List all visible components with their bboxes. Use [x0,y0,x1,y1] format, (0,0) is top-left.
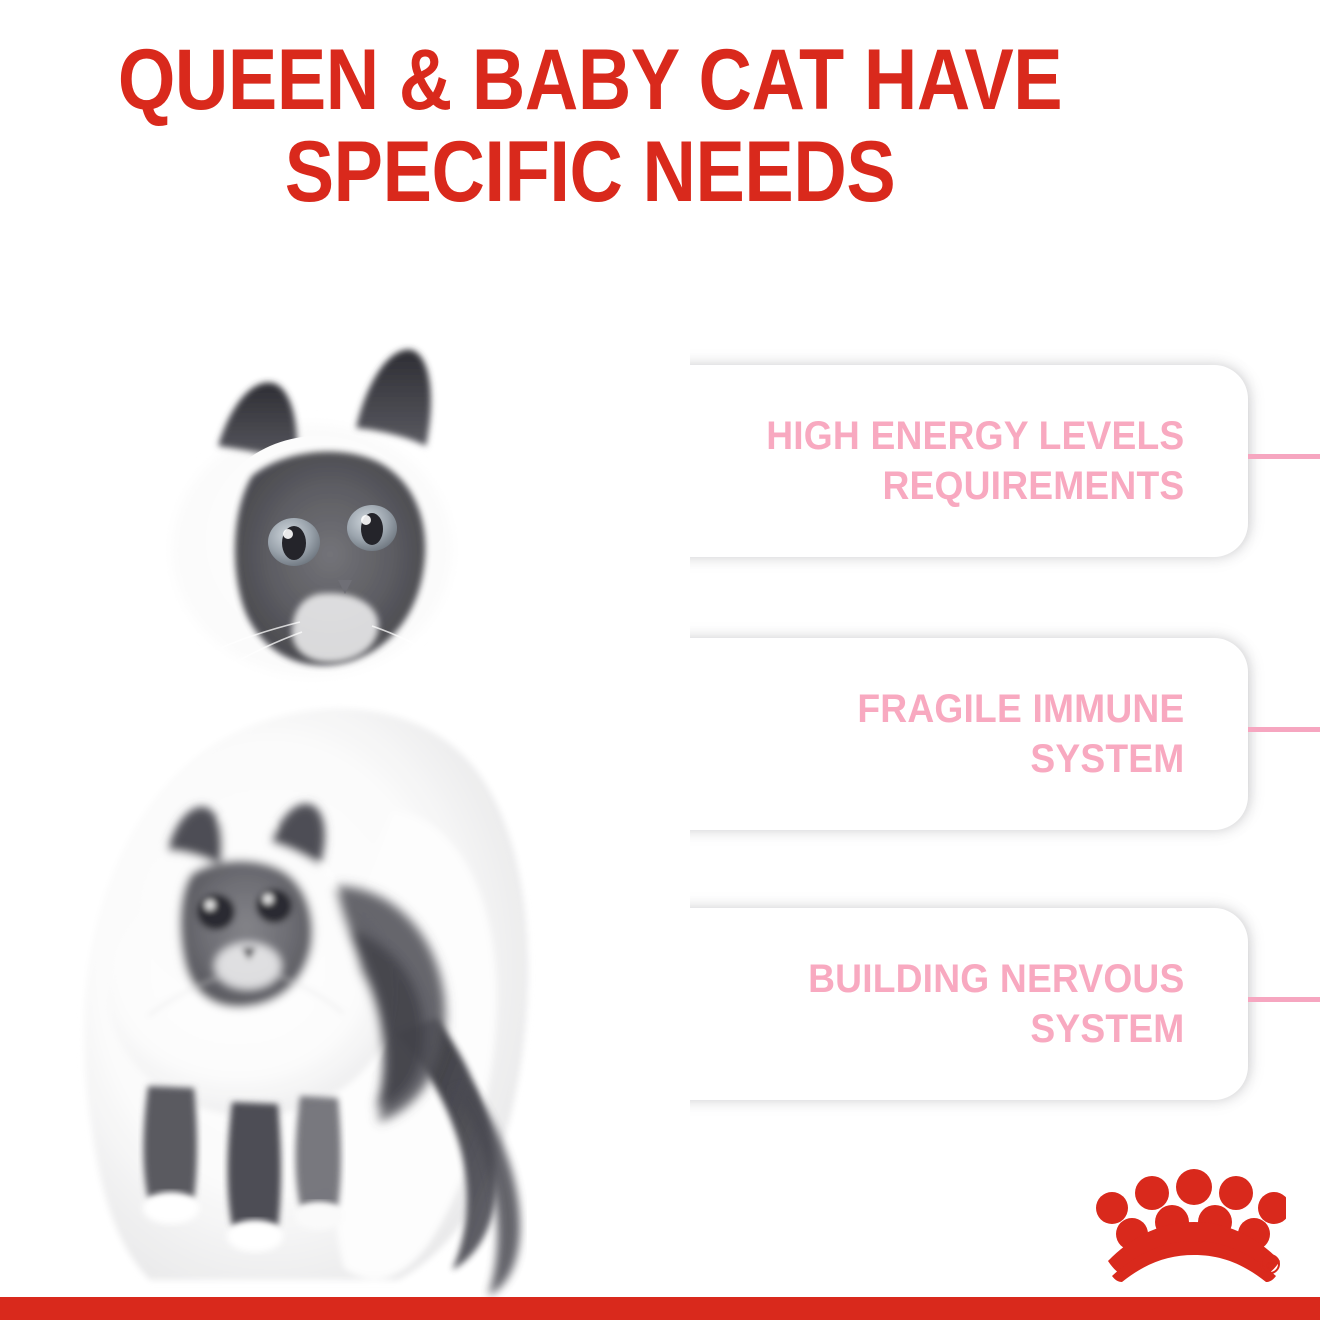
poster-canvas: QUEEN & BABY CAT HAVE SPECIFIC NEEDS [0,0,1320,1320]
callout-card-nervous-system[interactable]: BUILDING NERVOUS SYSTEM [660,908,1248,1100]
crown-icon [1096,1169,1286,1282]
callout-list: HIGH ENERGY LEVELS REQUIREMENTS FRAGILE … [660,0,1320,1320]
callout-card-high-energy[interactable]: HIGH ENERGY LEVELS REQUIREMENTS [660,365,1248,557]
callout-text-fragile-immune: FRAGILE IMMUNE SYSTEM [858,684,1248,784]
cat-photo [0,250,720,1300]
callout-line-2: SYSTEM [1031,1007,1185,1051]
adult-cat-head [172,350,452,676]
callout-text-nervous-system: BUILDING NERVOUS SYSTEM [808,954,1248,1054]
callout-line-1: BUILDING NERVOUS [808,957,1184,1001]
callout-text-high-energy: HIGH ENERGY LEVELS REQUIREMENTS [767,411,1248,511]
bottom-brand-bar [0,1297,1320,1320]
callout-line-1: FRAGILE IMMUNE [858,687,1185,731]
svg-text:®: ® [1266,1260,1274,1272]
callout-line-2: REQUIREMENTS [883,464,1185,508]
callout-card-fragile-immune[interactable]: FRAGILE IMMUNE SYSTEM [660,638,1248,830]
connector-line-high-energy [1248,454,1320,459]
callout-line-1: HIGH ENERGY LEVELS [767,414,1185,458]
royal-canin-logo[interactable]: ® [1090,1164,1286,1282]
connector-line-nervous-system [1248,997,1320,1002]
callout-line-2: SYSTEM [1031,737,1185,781]
connector-line-fragile-immune [1248,727,1320,732]
